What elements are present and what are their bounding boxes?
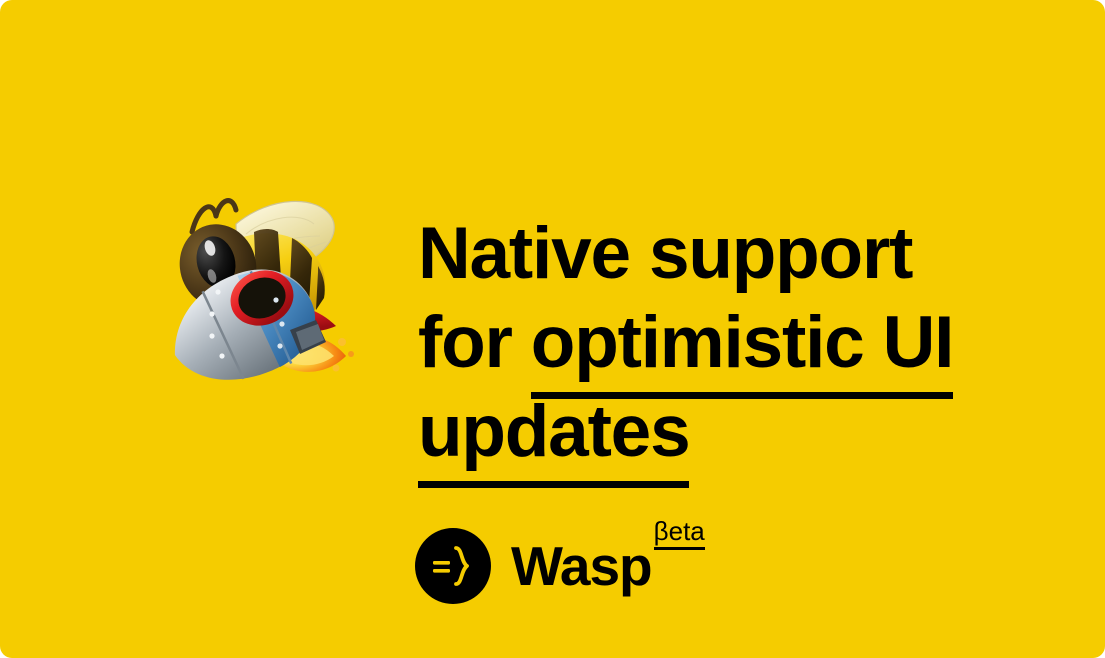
- headline-line-3: updates: [418, 387, 1038, 476]
- headline-line-3-underlined: updates: [418, 387, 689, 476]
- wasp-wordmark: Wasp βeta: [511, 539, 652, 594]
- bee-riding-rocket-illustration: [150, 180, 370, 400]
- headline-line-2-prefix: for: [418, 302, 531, 383]
- beta-badge: βeta: [654, 517, 705, 551]
- social-card: Native support for optimistic UI updates…: [0, 0, 1105, 658]
- page-title: Native support for optimistic UI updates: [418, 209, 1038, 476]
- headline-line-2-underlined: optimistic UI: [531, 298, 953, 387]
- headline-line-2: for optimistic UI: [418, 298, 1038, 387]
- wasp-wordmark-text: Wasp: [511, 535, 652, 597]
- wasp-logo: Wasp βeta: [415, 528, 652, 604]
- headline-line-1: Native support: [418, 209, 1038, 298]
- wasp-emoticon-logo-icon: [415, 528, 491, 604]
